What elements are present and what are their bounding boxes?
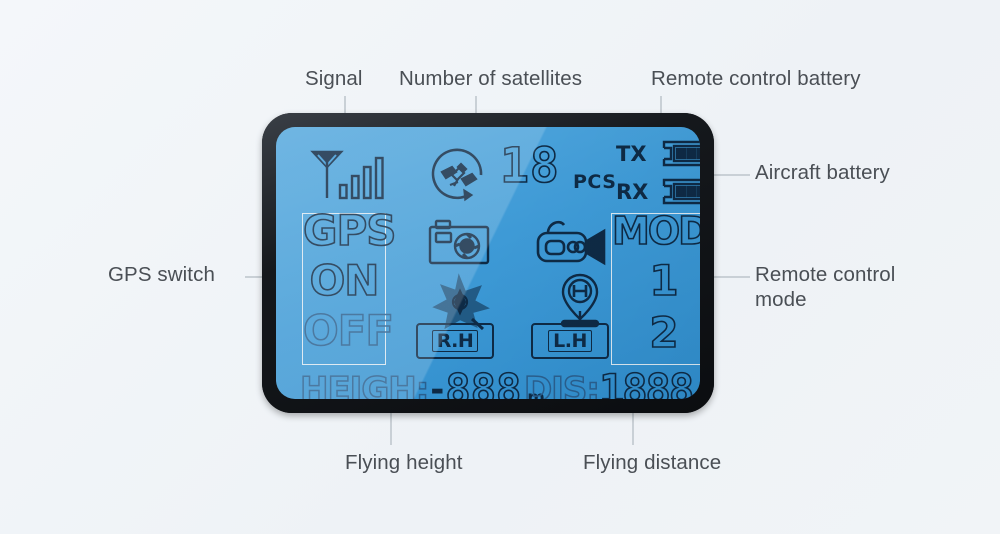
height-sign: - — [430, 373, 444, 399]
compass-icon-group — [432, 275, 490, 329]
battery-icon-rx — [660, 177, 700, 207]
video-icon-group — [534, 217, 610, 269]
battery-icon-tx — [660, 139, 700, 169]
height-readout-group: HEIGH: - 888 m — [300, 369, 545, 399]
satellite-count-group: 18 — [500, 142, 560, 190]
video-camera-icon — [534, 217, 610, 269]
home-point-pin-icon — [554, 271, 606, 329]
callout-number-of-satellites: Number of satellites — [399, 66, 582, 91]
compass-rosette-icon — [432, 275, 490, 329]
callout-aircraft-battery: Aircraft battery — [755, 160, 890, 185]
tx-label: TX — [616, 144, 647, 165]
height-value: 888 — [445, 369, 521, 399]
distance-unit: m — [697, 390, 700, 399]
antenna-signal-icon — [310, 145, 388, 203]
home-point-group — [554, 271, 606, 329]
height-label: HEIGH: — [300, 373, 428, 399]
mode-label: MODE — [612, 209, 700, 253]
callout-flying-distance: Flying distance — [583, 450, 721, 475]
gps-on-label[interactable]: ON — [310, 256, 379, 305]
distance-readout-group: DIS: 1888 m — [524, 369, 700, 399]
satellite-icon-group — [428, 145, 490, 203]
distance-label: DIS: — [524, 373, 599, 399]
mode-option-2[interactable]: 2 — [649, 308, 678, 357]
camera-icon-group — [428, 219, 492, 269]
left-hand-mode-box[interactable]: L.H — [531, 323, 609, 359]
lcd-bezel: 18 PCS TX — [262, 113, 714, 413]
left-hand-label: L.H — [548, 330, 592, 352]
signal-icon-group — [310, 145, 388, 203]
callout-remote-control-mode: Remote control mode — [755, 262, 895, 312]
gps-label: GPS — [303, 206, 396, 255]
gps-off-label[interactable]: OFF — [303, 306, 393, 355]
diagram-canvas: Signal Number of satellites Remote contr… — [0, 0, 1000, 534]
satellite-count-unit-group: PCS — [573, 173, 616, 193]
satellite-orbit-icon — [428, 145, 490, 203]
satellite-count-value: 18 — [500, 138, 560, 194]
photo-camera-icon — [428, 219, 492, 269]
callout-remote-control-battery: Remote control battery — [651, 66, 861, 91]
callout-signal: Signal — [305, 66, 363, 91]
gps-switch-box[interactable]: GPS ON OFF — [302, 213, 386, 365]
mode-option-1[interactable]: 1 — [649, 256, 678, 305]
lcd-screen: 18 PCS TX — [276, 127, 700, 399]
callout-flying-height: Flying height — [345, 450, 463, 475]
distance-value: 1888 — [599, 369, 692, 399]
right-hand-label: R.H — [432, 330, 479, 352]
callout-gps-switch: GPS switch — [108, 262, 215, 287]
mode-box[interactable]: MODE 1 2 — [611, 213, 700, 365]
right-hand-mode-box[interactable]: R.H — [416, 323, 494, 359]
satellite-count-unit: PCS — [573, 171, 616, 193]
rx-label: RX — [616, 182, 648, 203]
